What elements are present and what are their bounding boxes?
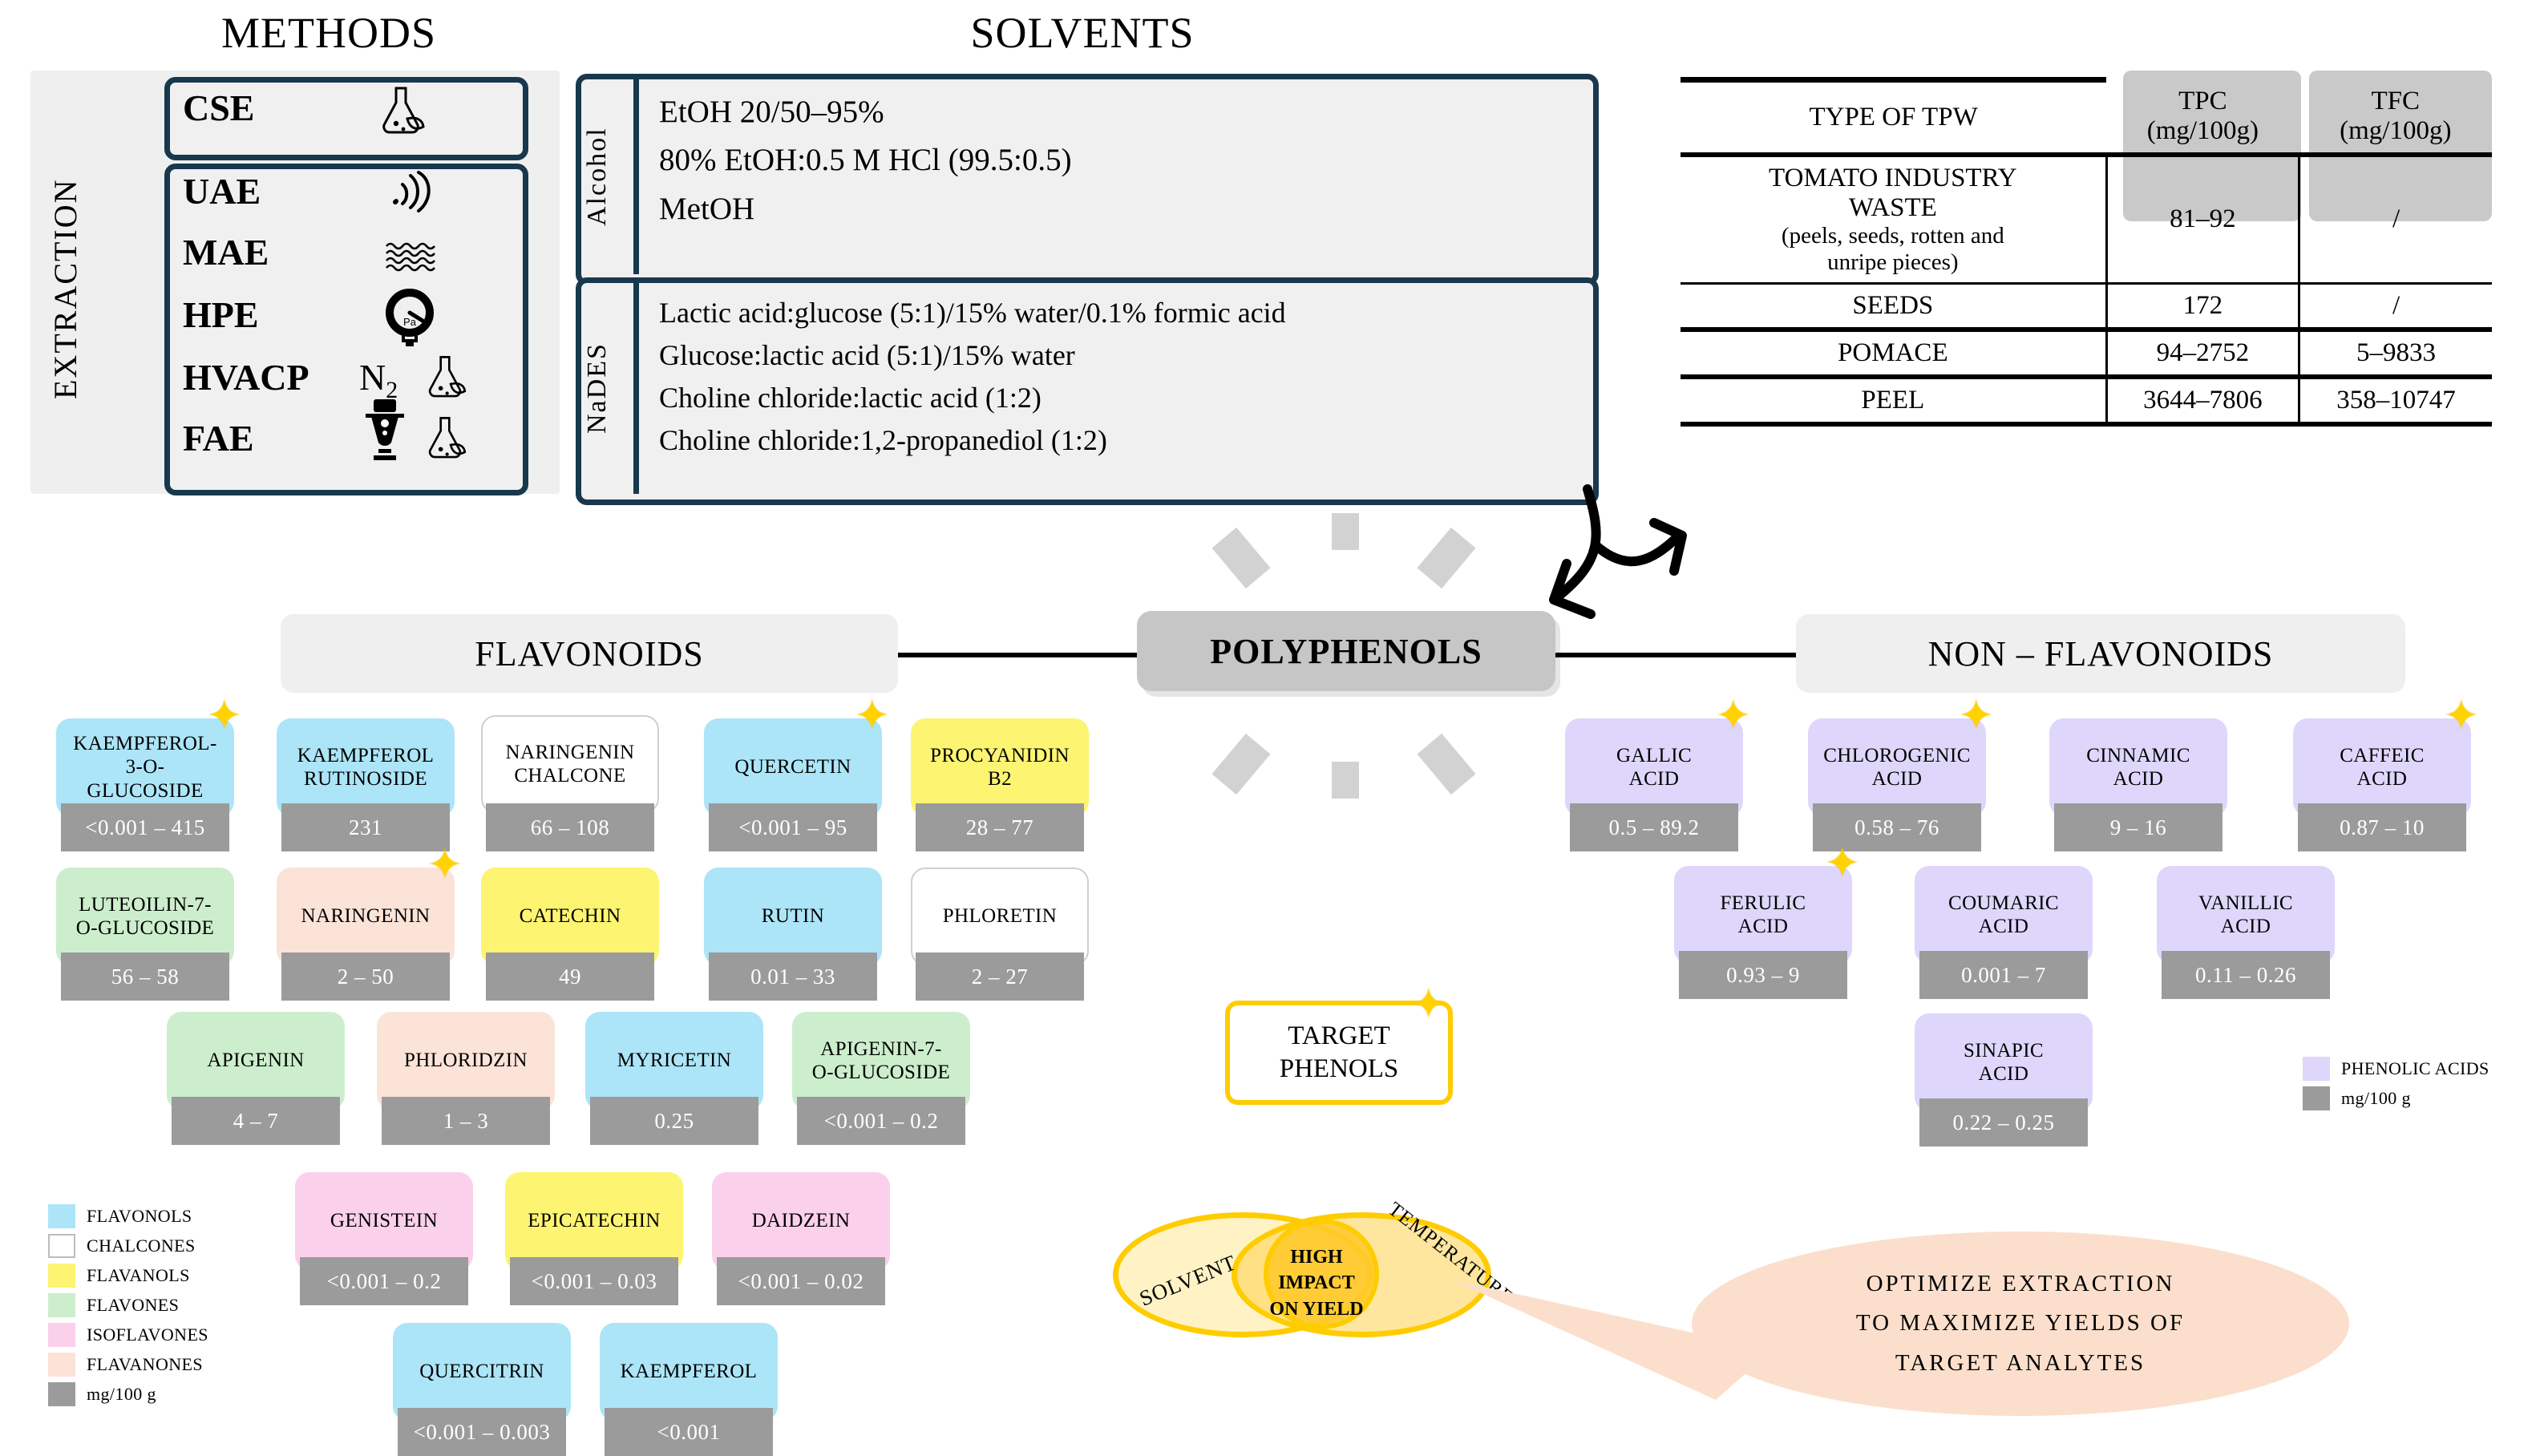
- star-icon: ✦: [427, 845, 463, 887]
- flavonoids-header: FLAVONOIDS: [281, 614, 898, 693]
- burst-shape: [1332, 513, 1359, 550]
- star-icon: ✦: [2444, 696, 2479, 738]
- method-hpe-label: HPE: [183, 293, 259, 336]
- solvent-line: Lactic acid:glucose (5:1)/15% water/0.1%…: [659, 292, 1581, 334]
- cell-tpc: 81–92: [2106, 155, 2299, 284]
- legend-label: PHENOLIC ACIDS: [2341, 1058, 2489, 1079]
- cell-type: PEEL: [1681, 377, 2106, 422]
- non-flavonoids-legend: PHENOLIC ACIDS mg/100 g: [2303, 1057, 2489, 1116]
- venn-center-line2: ON YIELD: [1264, 1296, 1369, 1322]
- compound-card[interactable]: DAIDZEIN: [712, 1172, 890, 1270]
- non-flavonoids-header: NON – FLAVONOIDS: [1796, 614, 2405, 693]
- burst-shape: [1417, 734, 1475, 795]
- burst-shape: [1332, 762, 1359, 799]
- connector-left: [898, 653, 1139, 657]
- cell-line: WASTE: [1689, 193, 2097, 223]
- table-row: POMACE 94–2752 5–9833: [1681, 330, 2492, 377]
- legend-label: CHALCONES: [87, 1236, 196, 1256]
- nitrogen-n: N: [359, 357, 386, 398]
- legend-item: CHALCONES: [48, 1234, 208, 1258]
- star-icon: ✦: [1825, 843, 1860, 885]
- solvent-nades-divider: [633, 277, 639, 494]
- compound-card[interactable]: QUERCITRIN: [393, 1323, 571, 1421]
- legend-label: mg/100 g: [2341, 1088, 2411, 1109]
- legend-swatch-phenolic-acids: [2303, 1057, 2330, 1081]
- compound-value-bar: 28 – 77: [916, 803, 1084, 851]
- solvent-line: EtOH 20/50–95%: [659, 88, 1565, 136]
- tpw-table: TYPE OF TPW TPC (mg/100g) TFC (mg/100g) …: [1681, 77, 2492, 427]
- cell-tpc: 172: [2106, 283, 2299, 330]
- compound-name: FERULICACID: [1721, 892, 1806, 939]
- compound-value-bar: 2 – 50: [281, 952, 450, 1001]
- compound-value-bar: 0.25: [590, 1097, 758, 1145]
- compound-name: NARINGENIN: [301, 904, 431, 928]
- burst-shape: [1417, 528, 1475, 588]
- compound-name: CATECHIN: [520, 904, 621, 928]
- col-tpc-line1: TPC: [2114, 87, 2291, 116]
- col-tpc-line2: (mg/100g): [2114, 116, 2291, 146]
- compound-card[interactable]: CINNAMICACID: [2049, 718, 2227, 816]
- compound-value-bar: 4 – 7: [172, 1097, 340, 1145]
- compound-value-bar: 0.93 – 9: [1679, 951, 1847, 999]
- legend-item: mg/100 g: [2303, 1086, 2489, 1110]
- compound-name: VANILLICACID: [2198, 892, 2293, 939]
- callout-line3: TARGET ANALYTES: [1856, 1344, 2185, 1383]
- compound-name: MYRICETIN: [617, 1049, 731, 1073]
- compound-card[interactable]: PHLORETIN: [911, 868, 1089, 965]
- venn-center-line1: HIGH IMPACT: [1264, 1244, 1369, 1296]
- legend-item: mg/100 g: [48, 1382, 208, 1406]
- compound-value-bar: <0.001 – 0.2: [797, 1097, 965, 1145]
- star-icon: ✦: [1716, 696, 1751, 738]
- nitrogen-flask-icon: [423, 353, 467, 406]
- solvent-line: Choline chloride:1,2-propanediol (1:2): [659, 419, 1581, 462]
- method-fae-label: FAE: [183, 417, 254, 459]
- compound-value-bar: 0.87 – 10: [2298, 803, 2466, 851]
- cell-line: (peels, seeds, rotten and: [1689, 223, 2097, 249]
- compound-card[interactable]: EPICATECHIN: [505, 1172, 683, 1270]
- star-icon: ✦: [207, 696, 242, 738]
- compound-card[interactable]: APIGENIN: [167, 1012, 345, 1110]
- callout-line2: TO MAXIMIZE YIELDS OF: [1856, 1304, 2185, 1343]
- col-tfc-line2: (mg/100g): [2307, 116, 2484, 146]
- compound-name: GENISTEIN: [330, 1209, 438, 1233]
- cell-tfc: /: [2299, 155, 2492, 284]
- callout-bubble: OPTIMIZE EXTRACTION TO MAXIMIZE YIELDS O…: [1692, 1232, 2349, 1416]
- legend-item: FLAVONOLS: [48, 1204, 208, 1228]
- compound-card[interactable]: GENISTEIN: [295, 1172, 473, 1270]
- compound-name: PHLORIDZIN: [404, 1049, 528, 1073]
- compound-value-bar: <0.001 – 415: [61, 803, 229, 851]
- solvent-alcohol-divider: [633, 74, 639, 274]
- enzyme-leaf-flask-icon: [423, 414, 467, 467]
- legend-label: FLAVANOLS: [87, 1265, 190, 1286]
- compound-value-bar: <0.001 – 0.003: [398, 1408, 566, 1456]
- pressure-gauge-icon: Pa: [385, 287, 435, 352]
- extraction-label: EXTRACTION: [47, 120, 95, 457]
- compound-name: DAIDZEIN: [752, 1209, 851, 1233]
- legend-label: FLAVANONES: [87, 1354, 203, 1375]
- compound-card[interactable]: MYRICETIN: [585, 1012, 763, 1110]
- burst-shape: [1211, 528, 1270, 588]
- solvent-alcohol-lines: EtOH 20/50–95% 80% EtOH:0.5 M HCl (99.5:…: [659, 88, 1565, 233]
- cell-type: TOMATO INDUSTRY WASTE (peels, seeds, rot…: [1681, 155, 2106, 284]
- col-tfc-header: TFC (mg/100g): [2299, 80, 2492, 155]
- compound-name: KAEMPFEROL: [621, 1360, 758, 1384]
- compound-name: NARINGENINCHALCONE: [506, 741, 635, 788]
- compound-value-bar: <0.001 – 0.03: [510, 1257, 678, 1305]
- star-icon: ✦: [1959, 696, 1994, 738]
- legend-swatch-flavonols: [48, 1204, 75, 1228]
- compound-name: CHLOROGENICACID: [1823, 744, 1971, 791]
- compound-name: APIGENIN: [207, 1049, 304, 1073]
- legend-label: ISOFLAVONES: [87, 1325, 208, 1345]
- polyphenols-header: POLYPHENOLS: [1137, 611, 1555, 691]
- compound-card[interactable]: KAEMPFEROL: [600, 1323, 778, 1421]
- legend-label: mg/100 g: [87, 1384, 156, 1405]
- solvent-line: Glucose:lactic acid (5:1)/15% water: [659, 334, 1581, 377]
- compound-card[interactable]: COUMARICACID: [1915, 866, 2093, 964]
- ultrasound-wave-icon: [386, 170, 435, 220]
- compound-name: QUERCITRIN: [419, 1360, 544, 1384]
- legend-item: PHENOLIC ACIDS: [2303, 1057, 2489, 1081]
- flask-leaf-icon: [377, 83, 425, 144]
- compound-name: RUTIN: [762, 904, 824, 928]
- cell-line: TOMATO INDUSTRY: [1689, 164, 2097, 193]
- table-row: PEEL 3644–7806 358–10747: [1681, 377, 2492, 422]
- compound-name: EPICATECHIN: [528, 1209, 661, 1233]
- compound-value-bar: 2 – 27: [916, 952, 1084, 1001]
- solvent-line: Choline chloride:lactic acid (1:2): [659, 377, 1581, 419]
- svg-text:Pa: Pa: [403, 316, 417, 328]
- compound-value-bar: 0.001 – 7: [1919, 951, 2088, 999]
- compound-name: PROCYANIDINB2: [930, 744, 1070, 791]
- compound-card[interactable]: RUTIN: [704, 868, 882, 965]
- compound-value-bar: 56 – 58: [61, 952, 229, 1001]
- compound-value-bar: <0.001 – 0.2: [300, 1257, 468, 1305]
- method-uae-label: UAE: [183, 170, 261, 212]
- compound-card[interactable]: PROCYANIDINB2: [911, 718, 1089, 816]
- legend-swatch-flavanols: [48, 1264, 75, 1288]
- solvent-nades-label: NaDES: [582, 308, 627, 468]
- target-line2: PHENOLS: [1280, 1053, 1399, 1086]
- compound-card[interactable]: CATECHIN: [481, 868, 659, 965]
- enzyme-flask-icon: [362, 398, 407, 466]
- microwave-wave-icon: [385, 241, 438, 278]
- compound-name: KAEMPFEROL-3-O-GLUCOSIDE: [73, 732, 216, 803]
- compound-value-bar: 0.01 – 33: [709, 952, 877, 1001]
- compound-value-bar: 0.22 – 0.25: [1919, 1098, 2088, 1147]
- target-line1: TARGET: [1280, 1020, 1399, 1053]
- compound-value-bar: 0.5 – 89.2: [1570, 803, 1738, 851]
- compound-value-bar: 231: [281, 803, 450, 851]
- cell-tfc: 358–10747: [2299, 377, 2492, 422]
- compound-card[interactable]: NARINGENINCHALCONE: [481, 715, 659, 813]
- star-icon: ✦: [855, 696, 890, 738]
- col-tpc-header: TPC (mg/100g): [2106, 80, 2299, 155]
- cell-type: POMACE: [1681, 330, 2106, 377]
- solvent-alcohol-label: Alcohol: [582, 96, 627, 257]
- compound-name: QUERCETIN: [734, 755, 851, 779]
- compound-name: GALLICACID: [1616, 744, 1692, 791]
- compound-value-bar: 49: [486, 952, 654, 1001]
- table-header-row: TYPE OF TPW TPC (mg/100g) TFC (mg/100g): [1681, 80, 2492, 155]
- method-mae-label: MAE: [183, 231, 269, 273]
- legend-swatch-chalcones: [48, 1234, 75, 1258]
- legend-swatch-mg100g: [48, 1382, 75, 1406]
- compound-name: SINAPICACID: [1964, 1039, 2044, 1086]
- compound-value-bar: 1 – 3: [382, 1097, 550, 1145]
- table-bottom-rule: [1681, 422, 2492, 427]
- compound-name: CAFFEICACID: [2340, 744, 2425, 791]
- legend-item: FLAVANOLS: [48, 1264, 208, 1288]
- table-row: TOMATO INDUSTRY WASTE (peels, seeds, rot…: [1681, 155, 2492, 284]
- compound-card[interactable]: LUTEOILIN-7-O-GLUCOSIDE: [56, 868, 234, 965]
- compound-value-bar: <0.001 – 95: [709, 803, 877, 851]
- compound-value-bar: <0.001 – 0.02: [717, 1257, 885, 1305]
- legend-swatch-flavones: [48, 1293, 75, 1317]
- legend-label: FLAVONOLS: [87, 1206, 192, 1227]
- compound-name: PHLORETIN: [943, 904, 1057, 928]
- solvent-line: 80% EtOH:0.5 M HCl (99.5:0.5): [659, 136, 1565, 184]
- solvents-title: SOLVENTS: [802, 8, 1363, 58]
- cell-line: unripe pieces): [1689, 249, 2097, 276]
- cell-tfc: /: [2299, 283, 2492, 330]
- cell-type: SEEDS: [1681, 283, 2106, 330]
- burst-shape: [1211, 734, 1270, 795]
- compound-card[interactable]: APIGENIN-7-O-GLUCOSIDE: [792, 1012, 970, 1110]
- cell-tpc: 94–2752: [2106, 330, 2299, 377]
- compound-name: APIGENIN-7-O-GLUCOSIDE: [812, 1037, 950, 1085]
- compound-name: CINNAMICACID: [2086, 744, 2190, 791]
- col-tfc-line1: TFC: [2307, 87, 2484, 116]
- legend-item: FLAVONES: [48, 1293, 208, 1317]
- connector-right: [1555, 653, 1796, 657]
- legend-item: ISOFLAVONES: [48, 1323, 208, 1347]
- table-row: SEEDS 172 /: [1681, 283, 2492, 330]
- cell-tfc: 5–9833: [2299, 330, 2492, 377]
- compound-card[interactable]: VANILLICACID: [2157, 866, 2335, 964]
- solvent-line: MetOH: [659, 185, 1565, 233]
- compound-value-bar: <0.001: [605, 1408, 773, 1456]
- col-type-header: TYPE OF TPW: [1681, 80, 2106, 155]
- compound-name: LUTEOILIN-7-O-GLUCOSIDE: [76, 893, 214, 940]
- compound-name: KAEMPFEROLRUTINOSIDE: [297, 744, 435, 791]
- callout-line1: OPTIMIZE EXTRACTION: [1856, 1264, 2185, 1304]
- compound-card[interactable]: SINAPICACID: [1915, 1013, 2093, 1111]
- compound-value-bar: 0.11 – 0.26: [2162, 951, 2330, 999]
- legend-swatch-mg100g: [2303, 1086, 2330, 1110]
- legend-item: FLAVANONES: [48, 1353, 208, 1377]
- method-hvacp-label: HVACP: [183, 356, 309, 398]
- legend-label: FLAVONES: [87, 1295, 179, 1316]
- flavonoids-legend: FLAVONOLS CHALCONES FLAVANOLS FLAVONES I…: [48, 1204, 208, 1412]
- compound-value-bar: 66 – 108: [486, 803, 654, 851]
- methods-title: METHODS: [160, 8, 497, 58]
- solvent-nades-lines: Lactic acid:glucose (5:1)/15% water/0.1%…: [659, 292, 1581, 462]
- compound-value-bar: 9 – 16: [2054, 803, 2222, 851]
- venn-center-label: HIGH IMPACT ON YIELD: [1264, 1244, 1369, 1322]
- legend-swatch-isoflavones: [48, 1323, 75, 1347]
- cell-tpc: 3644–7806: [2106, 377, 2299, 422]
- legend-swatch-flavanones: [48, 1353, 75, 1377]
- compound-name: COUMARICACID: [1948, 892, 2059, 939]
- method-cse-label: CSE: [183, 87, 254, 129]
- compound-card[interactable]: PHLORIDZIN: [377, 1012, 555, 1110]
- star-icon: ✦: [1411, 985, 1446, 1026]
- compound-card[interactable]: KAEMPFEROLRUTINOSIDE: [277, 718, 455, 816]
